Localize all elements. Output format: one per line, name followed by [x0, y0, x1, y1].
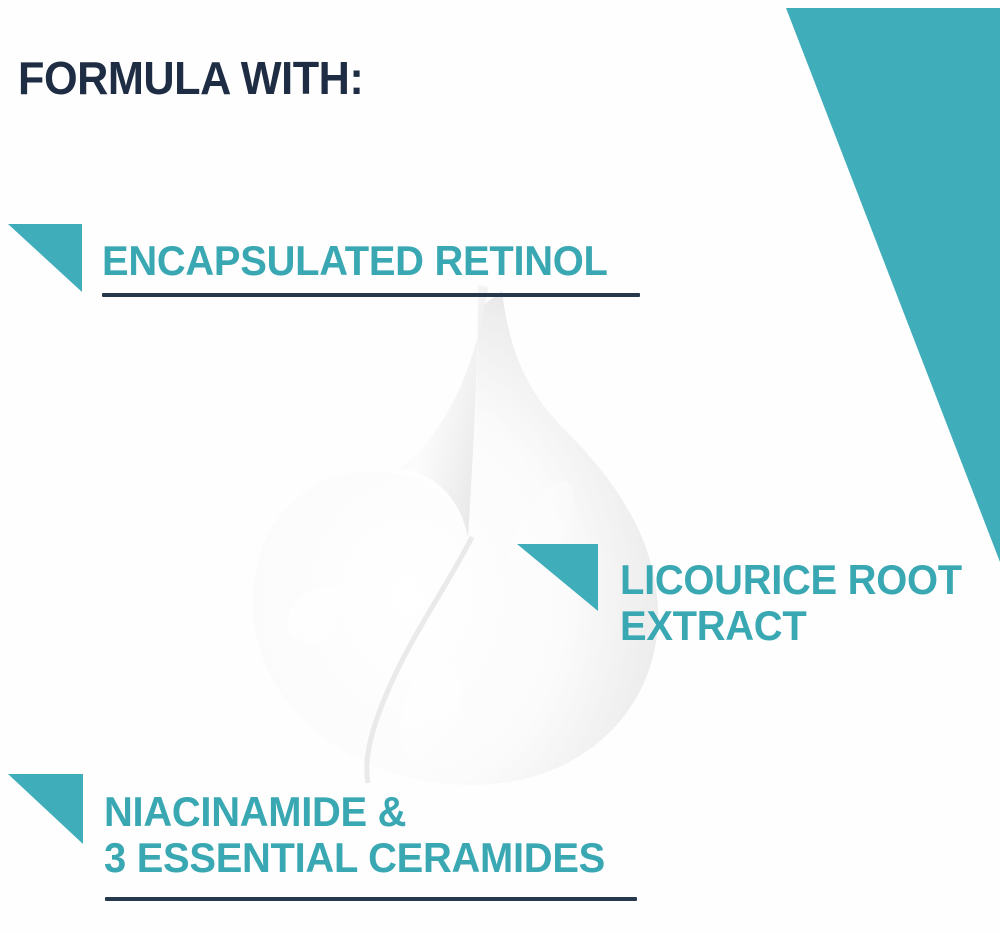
bullet-underline [105, 897, 637, 901]
bullet-line-1: NIACINAMIDE & [104, 788, 406, 835]
bullet-underline [102, 293, 640, 297]
triangle-marker-icon [8, 224, 82, 292]
bullet-line-2: EXTRACT [620, 602, 806, 649]
bullet-label-encapsulated-retinol: ENCAPSULATED RETINOL [102, 238, 608, 284]
cream-swirl-blob [210, 285, 670, 795]
bullet-label-licourice-root-extract: LICOURICE ROOT EXTRACT [620, 557, 962, 649]
bullet-label-niacinamide-ceramides: NIACINAMIDE & 3 ESSENTIAL CERAMIDES [104, 789, 605, 881]
bullet-line-2: 3 ESSENTIAL CERAMIDES [104, 834, 605, 881]
page-title: FORMULA WITH: [18, 52, 363, 104]
bullet-line-1: LICOURICE ROOT [620, 556, 962, 603]
triangle-marker-icon [8, 774, 83, 844]
formula-with-graphic: FORMULA WITH: ENCAPSULATED RETINOL LICOU… [0, 0, 1000, 933]
